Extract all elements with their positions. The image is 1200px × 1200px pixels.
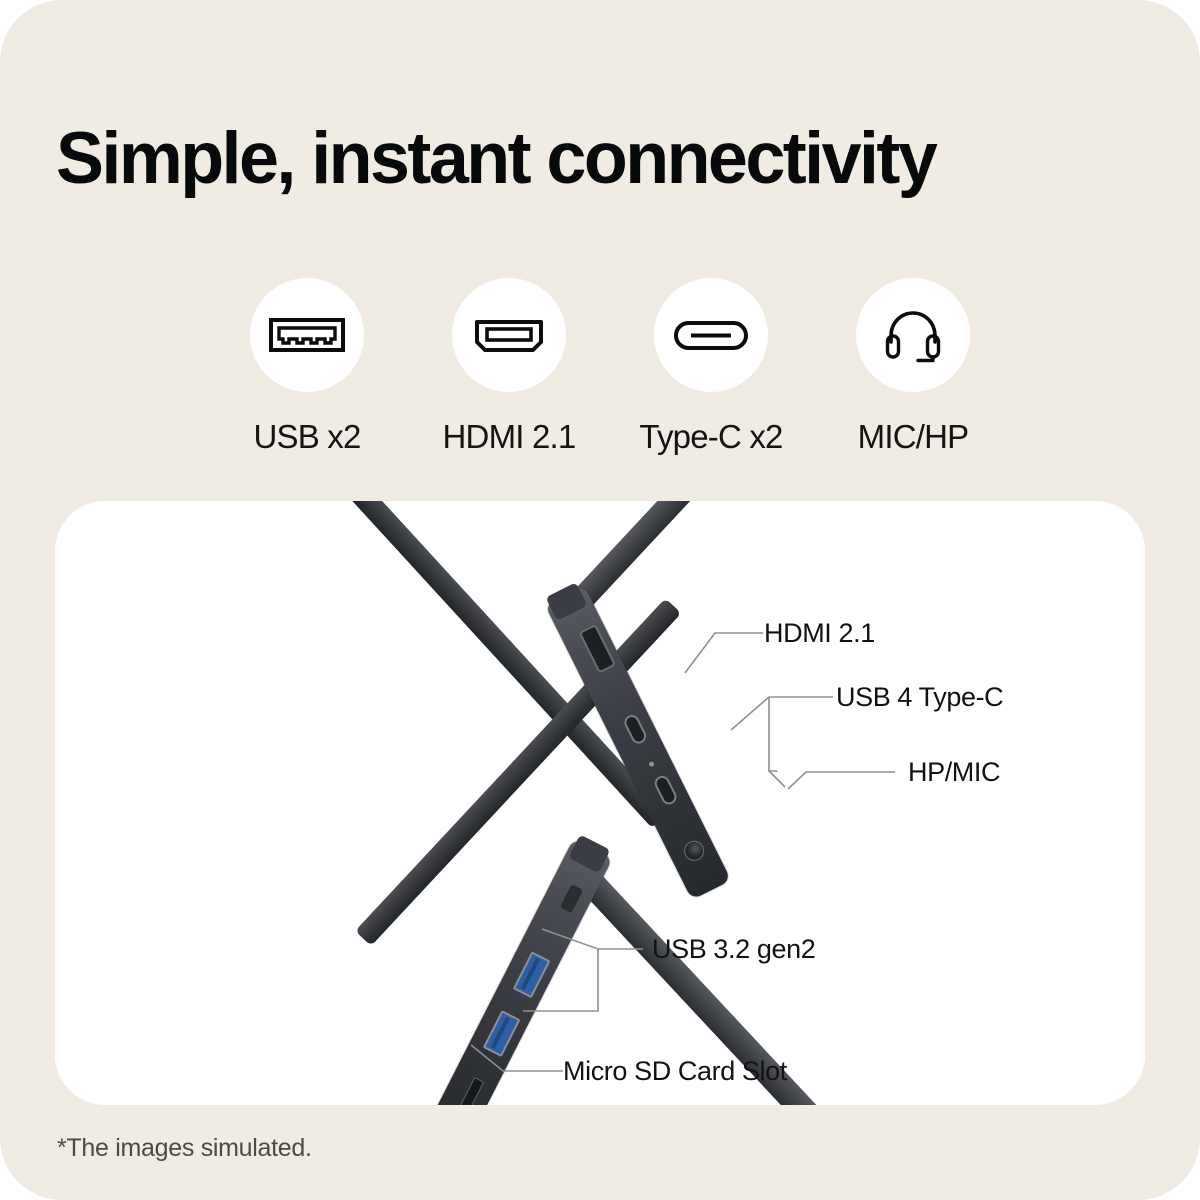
product-photo-card: HDMI 2.1 USB 4 Type-C HP/MIC USB 3.2 gen… — [55, 501, 1145, 1105]
callout-label-usb32: USB 3.2 gen2 — [652, 934, 815, 965]
leader-usb32-bracket — [523, 949, 598, 1011]
hdmi-port-icon — [473, 312, 545, 358]
badge-label-michp: MIC/HP — [858, 418, 969, 456]
badge-circle-typec — [654, 278, 768, 392]
badge-label-typec: Type-C x2 — [639, 418, 782, 456]
laptop-photo: HDMI 2.1 USB 4 Type-C HP/MIC USB 3.2 gen… — [55, 501, 1145, 1105]
callout-label-hpmic: HP/MIC — [908, 757, 1000, 788]
leader-usb4-bracket — [769, 697, 777, 771]
leader-usb4-bottom — [769, 771, 785, 787]
badge-circle-hdmi — [452, 278, 566, 392]
connectivity-badge-row: USB x2 HDMI 2.1 — [206, 278, 1016, 478]
badge-usb: USB x2 — [206, 278, 408, 478]
callout-label-usb4-typec: USB 4 Type-C — [836, 682, 1003, 713]
leader-hdmi — [685, 633, 763, 673]
badge-hdmi: HDMI 2.1 — [408, 278, 610, 478]
badge-michp: MIC/HP — [812, 278, 1014, 478]
callout-label-hdmi: HDMI 2.1 — [764, 618, 875, 649]
callout-label-sdcard: Micro SD Card Slot — [563, 1056, 787, 1087]
badge-circle-usb — [250, 278, 364, 392]
footnote-text: *The images simulated. — [57, 1134, 312, 1163]
leader-hpmic — [788, 772, 895, 789]
page-title: Simple, instant connectivity — [56, 122, 1140, 195]
badge-label-usb: USB x2 — [253, 418, 360, 456]
headset-icon — [882, 304, 944, 366]
leader-usb4-top — [731, 697, 833, 730]
leader-usb32-top — [542, 929, 643, 949]
badge-typec: Type-C x2 — [610, 278, 812, 478]
callout-leader-lines — [55, 501, 1145, 1105]
badge-label-hdmi: HDMI 2.1 — [443, 418, 576, 456]
usb-a-port-icon — [269, 312, 345, 358]
leader-sdcard — [471, 1045, 563, 1071]
usb-c-port-icon — [673, 315, 749, 355]
badge-circle-michp — [856, 278, 970, 392]
promo-page: Simple, instant connectivity USB x2 — [0, 0, 1200, 1200]
